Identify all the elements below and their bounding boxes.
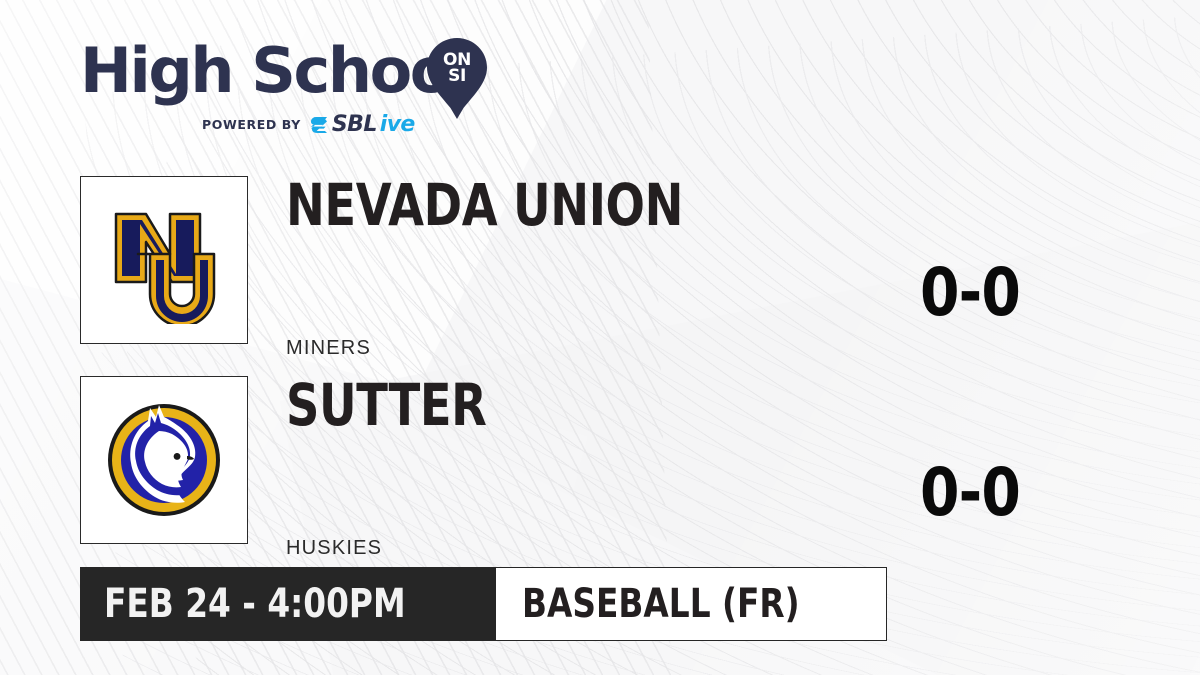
powered-by-lockup: POWERED BY SBLive (202, 112, 415, 137)
brand-wordmark: High School (80, 36, 469, 106)
home-team-mascot: HUSKIES (286, 537, 382, 560)
sblive-s-mark-icon (309, 115, 329, 135)
away-team-name: NEVADA UNION (286, 176, 683, 234)
away-team-mascot: MINERS (286, 337, 371, 360)
sblive-wordmark-dark: SBL (332, 112, 377, 137)
matchup-graphic: High School ON SI POWERED BY SBLive (0, 0, 1200, 675)
pin-line-si: SI (426, 68, 488, 84)
on-si-pin-label: ON SI (426, 52, 488, 84)
sblive-wordmark-accent: ive (380, 112, 415, 137)
game-info-banner: FEB 24 - 4:00PM BASEBALL (FR) (80, 567, 887, 641)
brand-lockup: High School ON SI POWERED BY SBLive (80, 36, 510, 132)
sutter-husky-head-icon (101, 397, 227, 523)
away-team-score: 0-0 (875, 260, 1064, 326)
away-team-logo-card (80, 176, 248, 344)
home-team-name: SUTTER (286, 376, 486, 434)
powered-by-label: POWERED BY (202, 117, 301, 132)
nevada-union-nu-monogram-icon (100, 196, 228, 324)
game-datetime-text: FEB 24 - 4:00PM (104, 584, 406, 624)
game-datetime-block: FEB 24 - 4:00PM (80, 567, 496, 641)
on-si-pin-icon: ON SI (426, 38, 488, 120)
game-sport-text: BASEBALL (FR) (522, 584, 800, 624)
home-team-logo-card (80, 376, 248, 544)
sblive-logo: SBLive (309, 112, 415, 137)
game-sport-block: BASEBALL (FR) (496, 567, 888, 641)
home-team-score: 0-0 (875, 460, 1064, 526)
